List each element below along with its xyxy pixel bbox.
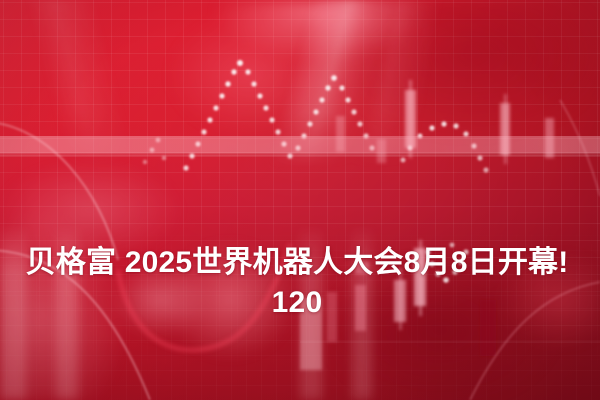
headline: 贝格富 2025世界机器人大会8月8日开幕! 120 只概念股业绩向好, 18股… (0, 163, 600, 400)
dotted-trendline-left (143, 138, 166, 165)
headline-line-1: 贝格富 2025世界机器人大会8月8日开幕! 120 (12, 243, 582, 323)
news-banner-image: 贝格富 2025世界机器人大会8月8日开幕! 120 只概念股业绩向好, 18股… (0, 0, 600, 400)
dotted-trendline-upper (183, 60, 374, 171)
